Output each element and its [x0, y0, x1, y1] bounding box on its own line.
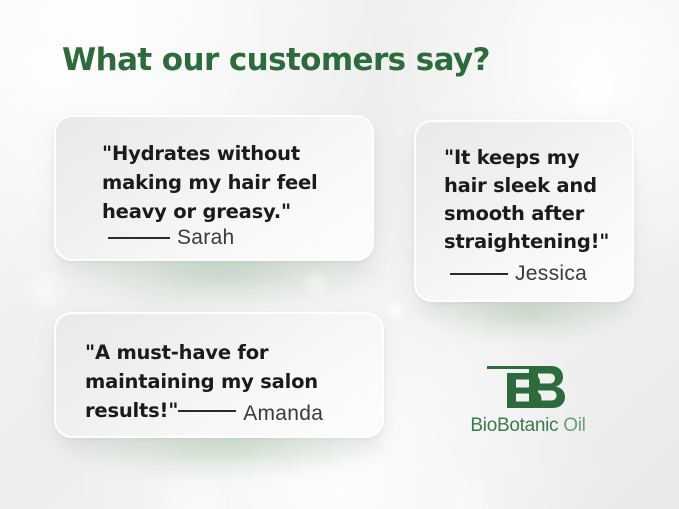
brand-name-secondary: Oil: [558, 415, 585, 436]
testimonial-quote: "Hydrates without making my hair feel he…: [102, 139, 364, 226]
bokeh-circle: [300, 268, 330, 298]
bokeh-circle: [150, 470, 230, 509]
brand-name-primary: BioBotanic: [470, 415, 558, 436]
testimonial-card-body: "It keeps my hair sleek and smooth after…: [416, 122, 632, 300]
testimonial-quote: "It keeps my hair sleek and smooth after…: [444, 144, 624, 256]
testimonial-author-name: Amanda: [243, 399, 323, 428]
testimonial-attribution: Jessica: [450, 262, 587, 286]
attribution-rule: [178, 410, 236, 412]
testimonial-author-name: Jessica: [515, 262, 587, 286]
attribution-rule: [450, 273, 508, 275]
testimonial-card: "Hydrates without making my hair feel he…: [54, 115, 374, 261]
testimonial-card: "It keeps my hair sleek and smooth after…: [414, 120, 634, 302]
testimonial-card: "A must-have for maintaining my salon re…: [54, 312, 384, 438]
testimonial-attribution: Amanda: [178, 402, 323, 431]
testimonial-card-body: "A must-have for maintaining my salon re…: [56, 314, 382, 436]
testimonial-author-name: Sarah: [177, 226, 235, 250]
brand-name: BioBotanic Oil: [448, 415, 608, 437]
brand-logo: BioBotanic Oil: [448, 360, 608, 437]
bokeh-circle: [22, 268, 68, 314]
testimonial-attribution: Sarah: [108, 226, 235, 250]
page-title: What our customers say?: [62, 42, 490, 78]
testimonial-quote-wrapper: "A must-have for maintaining my salon re…: [85, 338, 375, 431]
testimonial-card-body: "Hydrates without making my hair feel he…: [56, 117, 372, 259]
bokeh-circle: [430, 470, 500, 509]
testimonial-banner: What our customers say? "Hydrates withou…: [0, 0, 679, 509]
attribution-rule: [108, 237, 170, 239]
bokeh-circle: [560, 55, 624, 119]
bb-monogram-icon: [485, 360, 571, 412]
bokeh-circle: [386, 300, 406, 320]
